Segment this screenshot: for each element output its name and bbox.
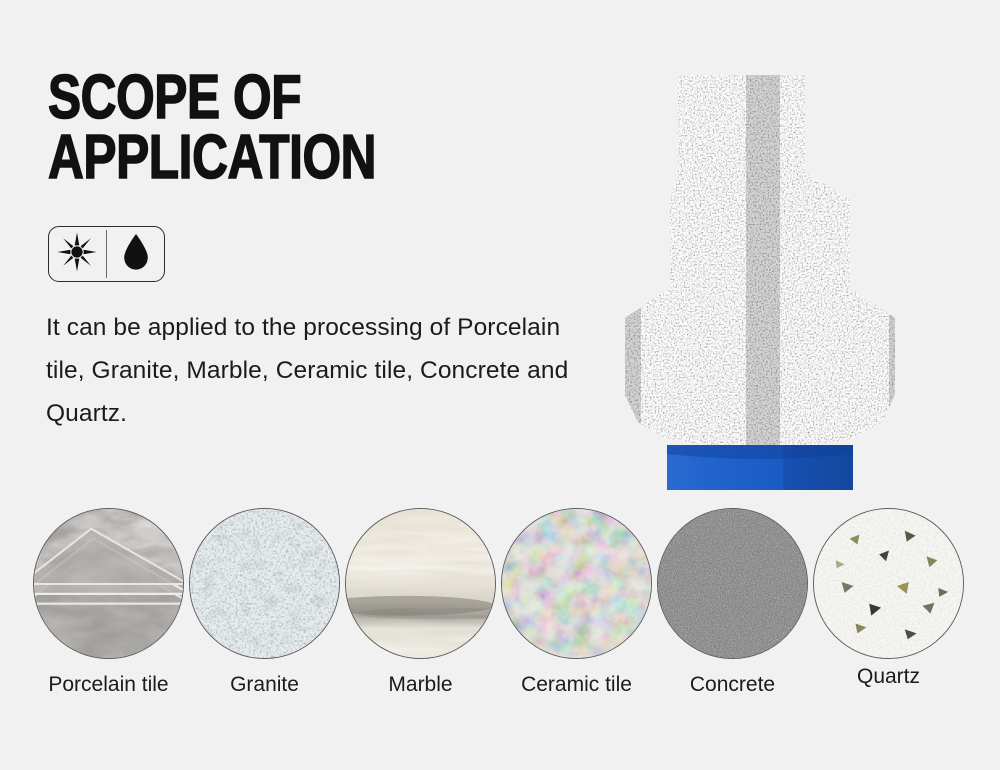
sun-dry-use-icon: [57, 232, 97, 277]
swatch-concrete: [657, 508, 808, 659]
usage-badge: [48, 226, 165, 282]
swatch-ceramic-tile: [501, 508, 652, 659]
material-label: Marble: [345, 673, 496, 697]
page-title-line-2: APPLICATION: [48, 128, 432, 188]
swatch-porcelain-tile: [33, 508, 184, 659]
water-drop-wet-use-icon: [122, 232, 150, 277]
material-label: Granite: [189, 673, 340, 697]
material-label: Quartz: [813, 665, 964, 689]
material-ceramic-tile: Ceramic tile: [501, 508, 652, 697]
scope-of-application-banner: SCOPE OF APPLICATION: [0, 0, 1000, 770]
product-image-diamond-milling-bit: [560, 50, 960, 490]
swatch-quartz: [813, 508, 964, 659]
swatch-marble: [345, 508, 496, 659]
material-quartz: Quartz: [813, 508, 964, 689]
description-text: It can be applied to the processing of P…: [46, 306, 576, 435]
material-porcelain-tile: Porcelain tile: [33, 508, 184, 697]
page-title-line-1: SCOPE OF: [48, 68, 432, 128]
material-swatch-strip: Porcelain tile: [33, 508, 965, 723]
page-title: SCOPE OF APPLICATION: [48, 68, 528, 188]
product-shank: [667, 445, 853, 490]
wet-use-cell: [107, 227, 164, 281]
dry-use-cell: [49, 227, 106, 281]
swatch-granite: [189, 508, 340, 659]
material-concrete: Concrete: [657, 508, 808, 697]
material-marble: Marble: [345, 508, 496, 697]
material-label: Concrete: [657, 673, 808, 697]
material-granite: Granite: [189, 508, 340, 697]
material-label: Porcelain tile: [33, 673, 184, 697]
material-label: Ceramic tile: [501, 673, 652, 697]
